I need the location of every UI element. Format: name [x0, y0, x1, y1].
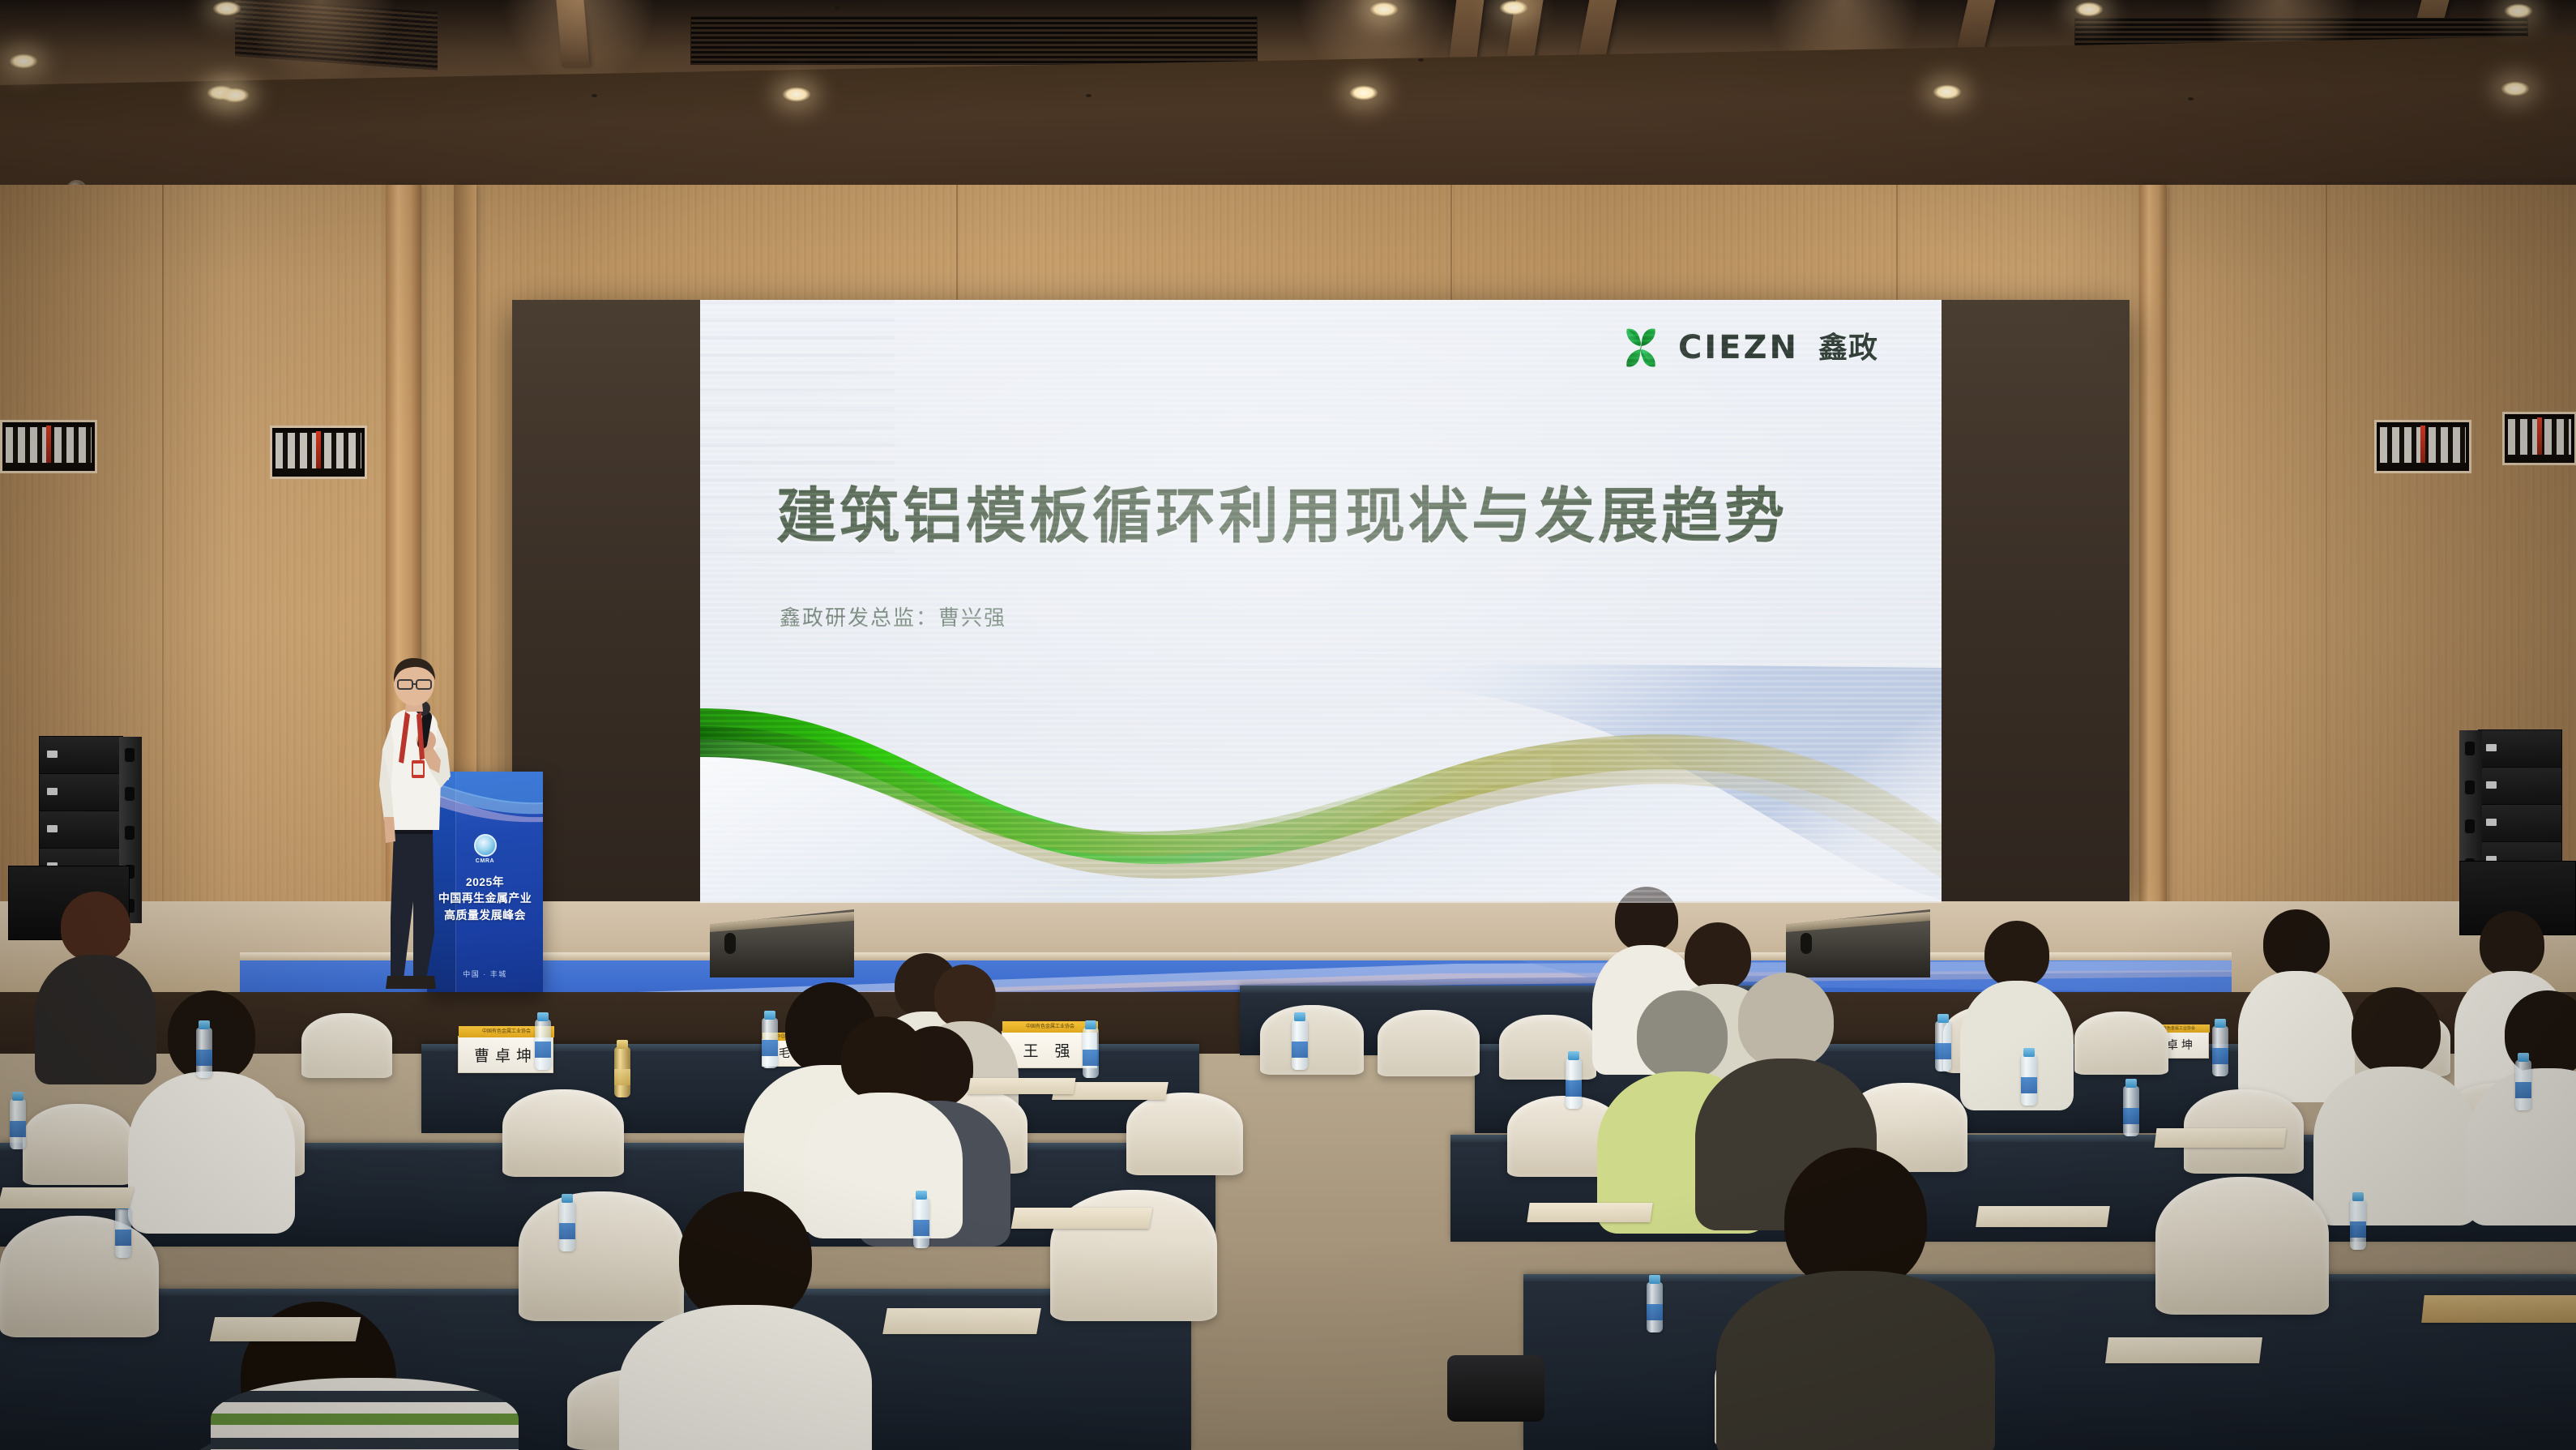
bottle-cap [2215, 1019, 2226, 1028]
ceiling-downlight [220, 88, 250, 103]
ceiling-downlight [2074, 2, 2104, 17]
led-presentation-screen[interactable]: CIEZN 鑫政 建筑铝模板循环利用现状与发展趋势 鑫政研发总监：曹兴强 [700, 300, 1942, 903]
notepad [968, 1078, 1075, 1094]
audience-person [818, 1016, 948, 1211]
speaker-port [2465, 781, 2475, 794]
bottle-label [1647, 1304, 1663, 1320]
bottle-cap [1937, 1014, 1949, 1023]
wall-panel-seam [2326, 185, 2327, 979]
ciezn-pinwheel-icon [1616, 323, 1666, 373]
audience-person [47, 892, 144, 1070]
slide-subtitle: 鑫政研发总监：曹兴强 [780, 601, 1006, 631]
chair [2074, 1012, 2168, 1075]
bottle-label [2515, 1082, 2531, 1098]
speaker-port [2465, 742, 2475, 755]
audience-person [2330, 987, 2463, 1211]
water-bottle [196, 1028, 212, 1078]
notepad [882, 1308, 1041, 1334]
bottle-label [614, 1069, 630, 1085]
ceiling-sprinkler [1086, 94, 1091, 97]
niche-red-strip [46, 426, 51, 463]
bottle-label [115, 1230, 131, 1246]
wall-niche-vent [2502, 412, 2576, 465]
water-bottle [559, 1201, 575, 1251]
person-striped-polo [243, 1378, 486, 1450]
person-torso [35, 955, 156, 1084]
bottle-cap [562, 1194, 573, 1203]
chair [502, 1089, 624, 1177]
person-torso-striped [211, 1378, 519, 1450]
person-head [1784, 1148, 1927, 1290]
water-bottle [10, 1099, 26, 1149]
bottle-label [10, 1121, 26, 1137]
niche-red-strip [2420, 426, 2425, 463]
ceiling-downlight [1933, 84, 1962, 100]
presenter-speaker [366, 658, 464, 992]
water-bottle [762, 1018, 778, 1068]
ceiling-downlight [2501, 81, 2530, 96]
bottle-cap [1294, 1012, 1305, 1021]
bottle-cap [617, 1040, 628, 1049]
speaker-port [125, 787, 135, 801]
ceiling-downlight [1369, 2, 1399, 17]
person-torso [128, 1071, 295, 1234]
speaker-port [125, 826, 135, 840]
ceiling-sprinkler [2188, 97, 2194, 101]
person-head [1738, 973, 1834, 1068]
water-bottle [1292, 1020, 1308, 1070]
slide-brand-logo: CIEZN 鑫政 [1616, 323, 1878, 373]
speaker-box [2479, 768, 2561, 805]
speaker-box [40, 737, 122, 774]
bottle-cap [2125, 1079, 2137, 1088]
bottle-label [913, 1220, 929, 1236]
chair [2155, 1177, 2329, 1315]
bottle-label [1292, 1042, 1308, 1058]
screen-pixel-noise [700, 300, 895, 567]
speaker-port [2465, 819, 2475, 833]
niche-red-strip [316, 431, 321, 468]
ceiling-downlight [212, 1, 241, 16]
floor-bag [1447, 1355, 1544, 1422]
person-torso [619, 1305, 872, 1450]
speaker-box [40, 811, 122, 849]
chair [301, 1013, 392, 1078]
notepad [0, 1187, 134, 1208]
podium-footer-text: 中国 · 丰城 [463, 969, 507, 979]
wedge-handle [1801, 933, 1812, 954]
chair [1126, 1093, 1243, 1175]
ceiling-downlight [782, 87, 811, 102]
bottle-cap [199, 1020, 210, 1029]
bottle-cap [1085, 1020, 1096, 1029]
cmra-logo-text: CMRA [476, 858, 494, 864]
bottle-label [2350, 1221, 2366, 1238]
ceiling-beam [556, 0, 589, 66]
slide-wave-graphic [700, 635, 1942, 903]
person-head [841, 1016, 925, 1101]
bottle-cap [2023, 1048, 2035, 1057]
person-torso [1960, 981, 2074, 1110]
bottle-cap [1649, 1275, 1660, 1284]
speaker-box [2479, 730, 2561, 768]
ceiling-sprinkler [592, 94, 597, 97]
chair [23, 1104, 133, 1185]
bottle-label [535, 1042, 551, 1058]
water-bottle [913, 1198, 929, 1248]
person-head [679, 1191, 812, 1323]
bottle-label [1083, 1050, 1099, 1066]
speaker-box [40, 774, 122, 811]
audience-table-row-c-right [1523, 1274, 2576, 1450]
tea-bottle [614, 1047, 630, 1097]
person-head [2352, 987, 2441, 1075]
wedge-handle [724, 933, 736, 954]
person-torso [1716, 1271, 1995, 1450]
wall-niche-vent [0, 420, 97, 473]
person-torso [2313, 1067, 2479, 1225]
water-bottle [1935, 1021, 1951, 1071]
water-bottle [1566, 1059, 1582, 1109]
conference-hall-photo: CIEZN 鑫政 建筑铝模板循环利用现状与发展趋势 鑫政研发总监：曹兴强 [0, 0, 2576, 1450]
bottle-label [559, 1223, 575, 1239]
bottle-cap [2518, 1053, 2529, 1062]
water-bottle [2350, 1200, 2366, 1250]
water-bottle [1083, 1028, 1099, 1078]
notepad [210, 1317, 361, 1341]
wall-panel-seam [162, 185, 164, 979]
niche-red-strip [2537, 417, 2542, 455]
chair [1499, 1015, 1596, 1080]
person-head [2263, 909, 2330, 977]
bottle-cap [2352, 1192, 2364, 1201]
slide-title: 建筑铝模板循环利用现状与发展趋势 [776, 485, 1788, 548]
water-bottle [2212, 1026, 2228, 1076]
bottle-label [1566, 1080, 1582, 1097]
audience-person [1969, 921, 2065, 1083]
ceiling-downlight [9, 53, 38, 69]
screen-side-panel-right [1942, 300, 2130, 903]
bottle-cap [12, 1092, 23, 1101]
ceiling-sprinkler [1418, 58, 1424, 62]
ceiling-downlight [2504, 3, 2533, 19]
table-top-edge [1523, 1274, 2576, 1281]
led-screen-assembly: CIEZN 鑫政 建筑铝模板循环利用现状与发展趋势 鑫政研发总监：曹兴强 [512, 300, 2130, 903]
wall-niche-vent [2374, 420, 2471, 473]
ceiling-sprinkler [835, 6, 840, 10]
bottle-label [196, 1050, 212, 1066]
notepad [1011, 1208, 1153, 1229]
bottle-label [2021, 1077, 2037, 1093]
person-torso [804, 1093, 963, 1238]
notepad [2155, 1128, 2287, 1148]
audience-person [143, 990, 280, 1217]
water-bottle [1647, 1282, 1663, 1332]
logo-chinese-text: 鑫政 [1818, 333, 1878, 362]
speaker-port [125, 748, 135, 762]
notepad [1527, 1203, 1652, 1222]
chair [1378, 1010, 1480, 1076]
ceiling-vent-grille [690, 16, 1258, 65]
wall-pilaster [2139, 185, 2167, 979]
water-bottle [2515, 1060, 2531, 1110]
speaker-box [2479, 805, 2561, 842]
name-card-name: 王 强 [1023, 1039, 1075, 1061]
bottle-label [1935, 1043, 1951, 1059]
chair [1260, 1005, 1364, 1075]
cmra-logo: CMRA [465, 832, 506, 866]
cmra-ring-icon [474, 834, 497, 857]
conference-folder [2421, 1295, 2576, 1323]
bottle-cap [916, 1191, 927, 1200]
bottle-cap [1568, 1051, 1579, 1060]
chair [0, 1216, 159, 1337]
ceiling-downlight [1349, 85, 1378, 101]
bottle-label [2212, 1048, 2228, 1064]
notepad [2105, 1337, 2262, 1363]
wall-niche-vent [270, 426, 367, 479]
person-head [2480, 911, 2544, 977]
notepad [1976, 1206, 2110, 1227]
water-bottle [115, 1208, 131, 1258]
bottle-cap [537, 1012, 549, 1021]
name-card-name: 曹卓坤 [474, 1044, 537, 1066]
water-bottle [2123, 1086, 2139, 1136]
water-bottle [2021, 1055, 2037, 1106]
person-head [1984, 921, 2049, 987]
bottle-cap [764, 1011, 775, 1020]
audience-person-foreground [1750, 1148, 1961, 1450]
ceiling-downlight [1499, 0, 1528, 15]
bottle-label [762, 1040, 778, 1056]
logo-latin-text: CIEZN [1678, 331, 1799, 364]
water-bottle [535, 1020, 551, 1070]
person-head [61, 892, 130, 961]
bottle-label [2123, 1108, 2139, 1124]
